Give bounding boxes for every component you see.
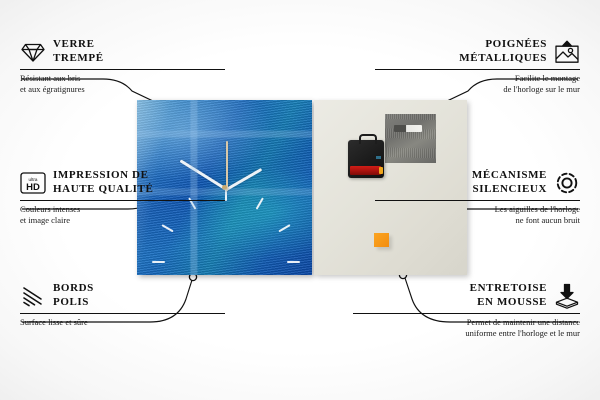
gear-icon xyxy=(554,170,580,196)
feature-description: Les aiguilles de l'horloge ne font aucun… xyxy=(375,204,580,226)
feature-description: Permet de maintenir une distance uniform… xyxy=(353,317,580,339)
feature-description: Facilite le montage de l'horloge sur le … xyxy=(375,73,580,95)
hanger-slot xyxy=(394,125,422,132)
divider xyxy=(353,313,580,314)
feature-description: Couleurs intenses et image claire xyxy=(20,204,225,226)
clock-hand-hour xyxy=(224,167,262,191)
feature-bords-polis: BORDS POLIS Surface lisse et sûre xyxy=(20,282,225,328)
polished-edges-icon xyxy=(20,283,46,309)
hour-marker xyxy=(255,197,263,209)
divider xyxy=(375,69,580,70)
divider xyxy=(20,200,225,201)
feature-entretoise-en-mousse: ENTRETOISE EN MOUSSE Permet de maintenir… xyxy=(353,282,580,339)
hour-marker xyxy=(278,224,290,232)
metal-hanger-plate xyxy=(385,114,436,163)
divider xyxy=(20,69,225,70)
feature-mecanisme-silencieux: MÉCANISME SILENCIEUX Les aiguilles de l'… xyxy=(375,169,580,226)
diamond-icon xyxy=(20,39,46,65)
mechanism-detail xyxy=(376,156,381,159)
feature-title: VERRE TREMPÉ xyxy=(53,38,104,66)
feature-title: BORDS POLIS xyxy=(53,282,94,310)
mechanism-tab xyxy=(359,134,377,144)
divider xyxy=(20,313,225,314)
feature-verre-trempe: VERRE TREMPÉ Résistant aux bris et aux é… xyxy=(20,38,225,95)
feature-poignees-metalliques: POIGNÉES MÉTALLIQUES Facilite le montage… xyxy=(375,38,580,95)
feature-title: IMPRESSION DE HAUTE QUALITÉ xyxy=(53,169,153,197)
svg-text:HD: HD xyxy=(26,182,40,193)
feature-description: Surface lisse et sûre xyxy=(20,317,225,328)
foam-spacer xyxy=(374,233,389,247)
feature-description: Résistant aux bris et aux égratignures xyxy=(20,73,225,95)
clock-hand-second xyxy=(226,141,228,191)
divider xyxy=(375,200,580,201)
foam-spacer-icon xyxy=(554,283,580,309)
picture-hanger-icon xyxy=(554,39,580,65)
feature-title: ENTRETOISE EN MOUSSE xyxy=(470,282,547,310)
feature-impression-haute-qualite: ultra HD IMPRESSION DE HAUTE QUALITÉ Cou… xyxy=(20,169,225,226)
hour-marker xyxy=(152,261,165,263)
hour-marker xyxy=(287,261,300,263)
feature-title: MÉCANISME SILENCIEUX xyxy=(472,169,547,197)
infographic-canvas: VERRE TREMPÉ Résistant aux bris et aux é… xyxy=(0,0,600,400)
feature-title: POIGNÉES MÉTALLIQUES xyxy=(459,38,547,66)
ultra-hd-icon: ultra HD xyxy=(20,170,46,196)
